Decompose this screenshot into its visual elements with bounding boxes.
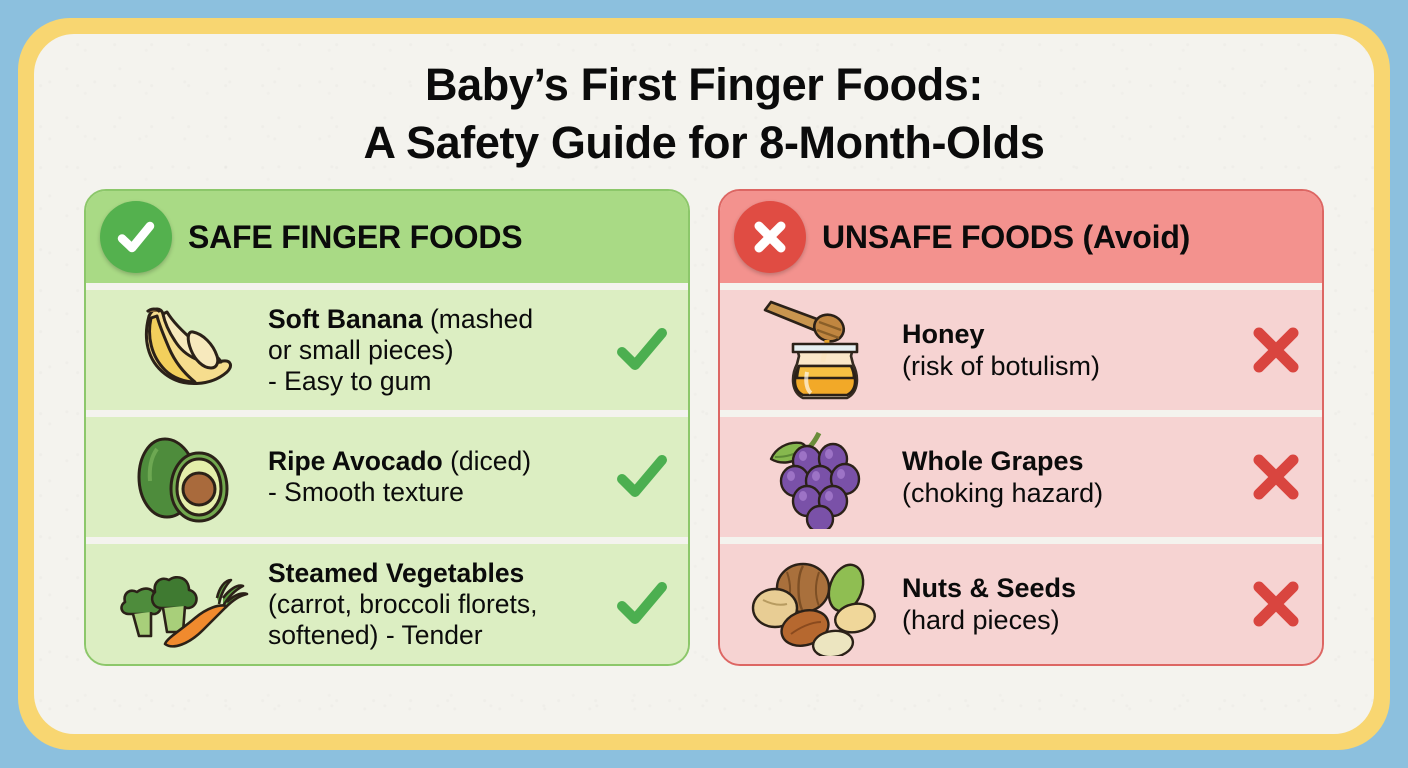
nuts-seeds-icon <box>730 548 902 660</box>
list-item[interactable]: Soft Banana (mashed or small pieces) - E… <box>86 283 688 410</box>
green-check-icon <box>606 321 678 379</box>
food-name: Soft Banana <box>268 304 423 334</box>
avocado-icon <box>96 421 268 533</box>
red-x-icon <box>1240 323 1312 377</box>
list-item-text: Nuts & Seeds (hard pieces) <box>902 572 1240 637</box>
list-item-text: Whole Grapes (choking hazard) <box>902 445 1240 510</box>
panels-container: SAFE FINGER FOODS <box>34 171 1374 666</box>
unsafe-rows: Honey (risk of botulism) <box>720 283 1322 664</box>
yellow-frame-border: Baby’s First Finger Foods: A Safety Guid… <box>18 18 1390 750</box>
check-circle-icon <box>100 201 172 273</box>
infographic-poster: Baby’s First Finger Foods: A Safety Guid… <box>0 0 1408 768</box>
unsafe-panel-header: UNSAFE FOODS (Avoid) <box>720 191 1322 283</box>
food-name: Nuts & Seeds <box>902 573 1076 603</box>
list-item-text: Soft Banana (mashed or small pieces) - E… <box>268 304 606 397</box>
food-detail-line-2: (choking hazard) <box>902 477 1234 509</box>
list-item[interactable]: Ripe Avocado (diced) - Smooth texture <box>86 410 688 537</box>
food-detail-line-2: or small pieces) <box>268 335 600 366</box>
paper-canvas: Baby’s First Finger Foods: A Safety Guid… <box>34 34 1374 734</box>
food-detail-line-2: (risk of botulism) <box>902 350 1234 382</box>
unsafe-panel-title: UNSAFE FOODS (Avoid) <box>822 219 1190 256</box>
list-item-text: Ripe Avocado (diced) - Smooth texture <box>268 446 606 508</box>
list-item[interactable]: Steamed Vegetables (carrot, broccoli flo… <box>86 537 688 664</box>
food-name: Honey <box>902 319 985 349</box>
food-name: Whole Grapes <box>902 446 1084 476</box>
list-item[interactable]: Whole Grapes (choking hazard) <box>720 410 1322 537</box>
safe-panel-title: SAFE FINGER FOODS <box>188 219 522 256</box>
red-x-icon <box>1240 577 1312 631</box>
food-detail-line-2: - Smooth texture <box>268 477 600 508</box>
unsafe-foods-panel: UNSAFE FOODS (Avoid) <box>718 189 1324 666</box>
food-detail-line-3: softened) - Tender <box>268 620 600 651</box>
red-x-icon <box>1240 450 1312 504</box>
page-title: Baby’s First Finger Foods: A Safety Guid… <box>34 34 1374 171</box>
title-line-2: A Safety Guide for 8-Month-Olds <box>74 114 1334 172</box>
safe-rows: Soft Banana (mashed or small pieces) - E… <box>86 283 688 664</box>
list-item[interactable]: Honey (risk of botulism) <box>720 283 1322 410</box>
food-name: Steamed Vegetables <box>268 558 524 588</box>
list-item-text: Honey (risk of botulism) <box>902 318 1240 383</box>
title-line-1: Baby’s First Finger Foods: <box>74 56 1334 114</box>
steamed-vegetables-icon <box>96 548 268 660</box>
food-name: Ripe Avocado <box>268 446 443 476</box>
food-detail-line-3: - Easy to gum <box>268 366 600 397</box>
safe-foods-panel: SAFE FINGER FOODS <box>84 189 690 666</box>
food-detail-line-2: (hard pieces) <box>902 604 1234 636</box>
list-item-text: Steamed Vegetables (carrot, broccoli flo… <box>268 558 606 651</box>
green-check-icon <box>606 448 678 506</box>
list-item[interactable]: Nuts & Seeds (hard pieces) <box>720 537 1322 664</box>
green-check-icon <box>606 575 678 633</box>
food-detail-line-2: (carrot, broccoli florets, <box>268 589 600 620</box>
honey-jar-icon <box>730 294 902 406</box>
food-qualifier: (diced) <box>443 446 531 476</box>
food-qualifier: (mashed <box>423 304 533 334</box>
banana-icon <box>96 294 268 406</box>
grapes-icon <box>730 421 902 533</box>
safe-panel-header: SAFE FINGER FOODS <box>86 191 688 283</box>
x-circle-icon <box>734 201 806 273</box>
